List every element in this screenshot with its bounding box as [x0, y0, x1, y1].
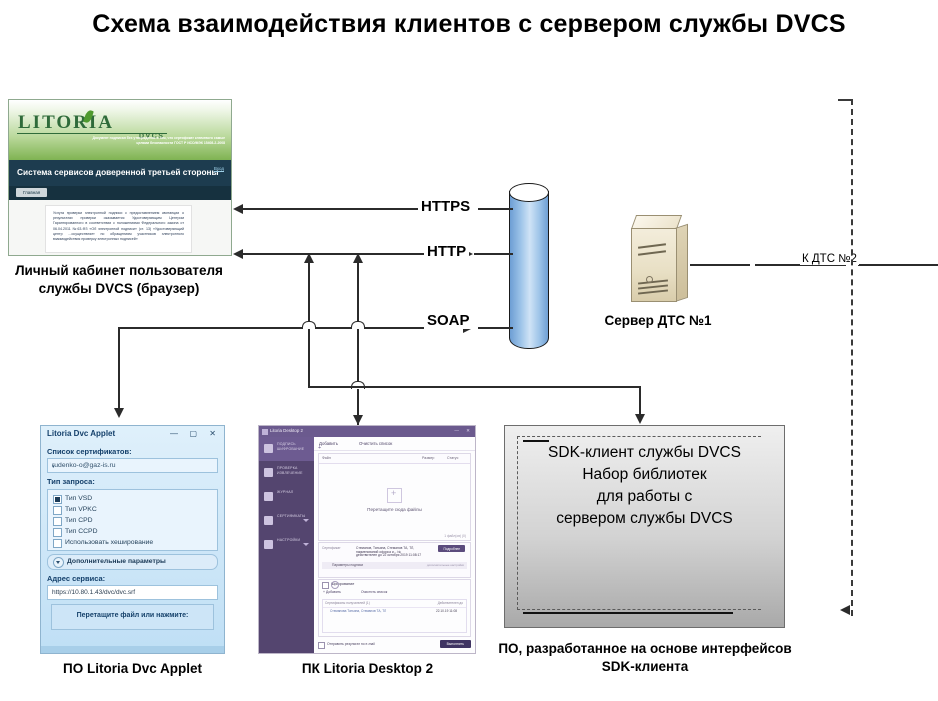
- encryption-clear-button[interactable]: Очистить список: [361, 590, 387, 594]
- clear-list-label: Очистить список: [359, 441, 392, 446]
- bus-to-sdk-arrow: [635, 414, 645, 424]
- applet-caption: ПО Litoria Dvc Applet: [20, 660, 245, 678]
- add-file-button[interactable]: + Добавить: [319, 441, 338, 446]
- option-hashing[interactable]: Использовать хеширование: [48, 537, 217, 548]
- recipient-column-right: Действителен до: [438, 601, 463, 605]
- signature-validity: действителен до 22 октября 2019 11:08:17: [356, 553, 437, 557]
- option-cpd-label: Тип CPD: [65, 517, 93, 524]
- checkbox-icon: [53, 495, 62, 504]
- more-params-label: Дополнительные параметры: [67, 558, 166, 565]
- request-type-label: Тип запроса:: [47, 477, 224, 486]
- soap-line: [118, 327, 467, 329]
- server-vent-1: [638, 243, 666, 248]
- cert-select[interactable]: rudenko-o@gaz-is.ru ▾: [47, 458, 218, 473]
- encryption-header[interactable]: Шифрование i: [319, 580, 470, 589]
- option-hashing-label: Использовать хеширование: [65, 539, 153, 546]
- encryption-panel: Шифрование i + Добавить Очистить список …: [318, 579, 471, 637]
- sdk-text: SDK-клиент службы DVCS Набор библиотек д…: [505, 442, 784, 530]
- service-address-input[interactable]: https://10.80.1.43/dvc/dvc.srf: [47, 585, 218, 600]
- page-title: Схема взаимодействия клиентов с сервером…: [0, 8, 938, 41]
- server-vent-4: [638, 284, 668, 289]
- gear-icon: [264, 540, 273, 549]
- clear-list-button[interactable]: Очистить список: [359, 441, 392, 446]
- signature-details-button[interactable]: Подробнее: [438, 545, 465, 552]
- file-dropzone[interactable]: Перетащите файл или нажмите:: [51, 604, 214, 630]
- checkbox-icon: [322, 582, 329, 589]
- signature-params-label: Параметры подписи: [332, 563, 363, 567]
- column-size: Размер: [422, 456, 434, 460]
- recipient-cert-list[interactable]: Сертификаты получателей (1) Действителен…: [322, 599, 467, 633]
- add-file-label: Добавить: [319, 441, 338, 446]
- info-card: Услуга проверки электронной подписи с пр…: [45, 205, 192, 253]
- server-label: Сервер ДТС №1: [578, 312, 738, 330]
- server-vent-3: [638, 279, 668, 284]
- cylinder-body: [509, 191, 549, 349]
- close-icon[interactable]: ✕: [209, 429, 216, 438]
- signature-validity-row: действителен до 22 октября 2019 11:08:17: [322, 555, 467, 561]
- https-label: HTTPS: [418, 198, 473, 215]
- bus-line: [308, 386, 640, 388]
- server-tower-icon: [625, 215, 687, 301]
- maximize-icon[interactable]: ▢: [189, 429, 197, 438]
- close-icon[interactable]: ✕: [466, 428, 470, 434]
- certificate-icon: [264, 516, 273, 525]
- sdk-line-1: SDK-клиент службы DVCS: [505, 442, 784, 464]
- pen-icon: [264, 444, 273, 453]
- email-checkbox[interactable]: [318, 642, 325, 649]
- bus-to-sdk-line: [639, 386, 641, 417]
- lock-icon: [264, 468, 273, 477]
- option-vpkc[interactable]: Тип VPKC: [48, 504, 217, 515]
- recipient-column-left: Сертификаты получателей (1): [325, 601, 370, 605]
- litoria-dvc-applet-window[interactable]: Litoria Dvc Applet — ▢ ✕ Список сертифик…: [40, 425, 225, 654]
- signature-params-row[interactable]: Параметры подписи дополнительные настрой…: [322, 562, 467, 569]
- soap-to-cylinder: [478, 327, 513, 329]
- recipient-valid-until: 22.10.19 11:08: [436, 609, 457, 613]
- option-vsd-label: Тип VSD: [65, 495, 92, 502]
- chevron-down-circle-icon: [53, 557, 64, 568]
- sidebar-item-journal-label: ЖУРНАЛ: [277, 490, 293, 495]
- litoria-logo-banner: LITORIA DVCS Документ подписан без утвер…: [9, 100, 231, 160]
- gost-note: Документ подписан без утверждения в том,…: [85, 136, 225, 145]
- encryption-clear-label: Очистить список: [361, 590, 387, 594]
- file-dropzone[interactable]: Перетащите сюда файлы: [319, 488, 470, 512]
- column-file: Файл: [322, 456, 331, 460]
- server-front-face: [631, 228, 677, 302]
- sdk-line-3: для работы с: [505, 486, 784, 508]
- column-status: Статус: [447, 456, 458, 460]
- line-hop-3: [351, 381, 365, 389]
- chevron-down-icon: [303, 543, 309, 546]
- checkbox-icon: [53, 528, 62, 537]
- sidebar-item-verify-extract-label: ПРОВЕРКА ИЗВЛЕЧЕНИЕ: [277, 466, 314, 476]
- cert-list-label: Список сертификатов:: [47, 447, 224, 456]
- run-button[interactable]: Выполнить: [440, 640, 471, 648]
- desktop-caption: ПК Litoria Desktop 2: [250, 660, 485, 678]
- boundary-top-tick: [838, 99, 851, 101]
- nav-tab-home[interactable]: Главная: [16, 188, 47, 197]
- chevron-down-icon: [303, 519, 309, 522]
- http-arrow-left: [233, 249, 243, 259]
- riser-arrow-2: [353, 253, 363, 263]
- minimize-icon[interactable]: —: [454, 428, 459, 433]
- more-params-toggle[interactable]: Дополнительные параметры: [47, 554, 218, 570]
- option-ccpd-label: Тип CCPD: [65, 528, 97, 535]
- applet-statusbar: [41, 646, 224, 653]
- encryption-add-button[interactable]: + Добавить: [323, 590, 341, 594]
- sdk-line-4: сервером службы DVCS: [505, 508, 784, 530]
- email-checkbox-label: Отправить результат по e-mail: [327, 642, 375, 646]
- plus-icon: +: [318, 445, 321, 451]
- server-power-led: [646, 276, 653, 283]
- site-header-title: Система сервисов доверенной третьей стор…: [17, 167, 219, 177]
- applet-drop-line: [118, 327, 120, 411]
- option-cpd[interactable]: Тип CPD: [48, 515, 217, 526]
- litoria-desktop-window[interactable]: Litoria Desktop 2 — ✕ ПОДПИСЬ ШИФРОВАНИЕ…: [258, 425, 476, 654]
- recipient-list-header: Сертификаты получателей (1) Действителен…: [323, 600, 466, 608]
- sidebar-item-sign-encrypt-label: ПОДПИСЬ ШИФРОВАНИЕ: [277, 442, 314, 452]
- riser-arrow-2-down: [353, 415, 363, 425]
- sidebar-item-verify-extract[interactable]: ПРОВЕРКА ИЗВЛЕЧЕНИЕ: [259, 461, 314, 485]
- file-grid-footer: 1 файл(ов) (0): [444, 534, 466, 538]
- add-file-icon: [387, 488, 402, 503]
- desktop-main-panel: + Добавить Очистить список Файл Размер С…: [314, 437, 475, 653]
- table-row[interactable]: Стеманова Татьяна, Стеманов ТА, ТЛ 22.10…: [323, 608, 466, 616]
- minimize-icon[interactable]: —: [170, 429, 178, 438]
- login-link[interactable]: Вход: [214, 166, 224, 171]
- chevron-down-icon: ▾: [52, 464, 213, 470]
- line-hop-1: [302, 321, 316, 329]
- site-content: Услуга проверки электронной подписи с пр…: [9, 200, 231, 255]
- help-icon[interactable]: i: [331, 581, 339, 589]
- option-vpkc-label: Тип VPKC: [65, 506, 97, 513]
- file-grid[interactable]: Файл Размер Статус Перетащите сюда файлы…: [318, 453, 471, 541]
- sidebar-item-certificates[interactable]: СЕРТИФИКАТЫ: [259, 509, 314, 533]
- riser-arrow-1: [304, 253, 314, 263]
- signature-params-note: дополнительные настройки: [427, 563, 464, 567]
- cylinder-top-ellipse: [509, 183, 549, 202]
- network-cylinder: [509, 183, 549, 355]
- server-to-boundary-line: [690, 264, 750, 266]
- file-dropzone-label: Перетащите сюда файлы: [319, 507, 470, 512]
- site-header-bar: Система сервисов доверенной третьей стор…: [9, 160, 231, 186]
- http-label: HTTP: [424, 243, 469, 260]
- sidebar-item-settings[interactable]: НАСТРОЙКИ: [259, 533, 314, 557]
- line-hop-2: [351, 321, 365, 329]
- sdk-client-box: SDK-клиент службы DVCS Набор библиотек д…: [504, 425, 785, 628]
- option-ccpd[interactable]: Тип CCPD: [48, 526, 217, 537]
- service-address-label: Адрес сервиса:: [47, 574, 224, 583]
- sdk-bottom-rule: [523, 612, 733, 614]
- file-grid-header: Файл Размер Статус: [319, 454, 470, 464]
- encryption-add-label: Добавить: [326, 590, 341, 594]
- desktop-title: Litoria Desktop 2: [270, 428, 303, 433]
- app-icon: [262, 429, 268, 435]
- applet-title: Litoria Dvc Applet: [47, 429, 115, 438]
- riser-line-2: [357, 262, 359, 434]
- recipient-name: Стеманова Татьяна, Стеманов ТА, ТЛ: [330, 609, 386, 613]
- encryption-toolbar: + Добавить Очистить список: [319, 589, 470, 597]
- checkbox-icon: [53, 539, 62, 548]
- sidebar-item-settings-label: НАСТРОЙКИ: [277, 538, 300, 543]
- signature-cert-key: Сертификат: [322, 546, 341, 550]
- sdk-caption: ПО, разработанное на основе интерфейсов …: [495, 640, 795, 676]
- signature-cert-row: Сертификат Стеманов, Татьяна, Стеманов Т…: [322, 545, 467, 553]
- service-address-value: https://10.80.1.43/dvc/dvc.srf: [52, 589, 135, 596]
- info-card-text: Услуга проверки электронной подписи с пр…: [53, 211, 184, 242]
- request-type-options: Тип VSD Тип VPKC Тип CPD Тип CCPD Исполь…: [47, 489, 218, 551]
- sidebar-item-journal[interactable]: ЖУРНАЛ: [259, 485, 314, 509]
- checkbox-icon: [53, 517, 62, 526]
- desktop-sidebar: ПОДПИСЬ ШИФРОВАНИЕ ПРОВЕРКА ИЗВЛЕЧЕНИЕ Ж…: [259, 437, 314, 653]
- applet-drop-arrow: [114, 408, 124, 418]
- http-to-cylinder: [474, 253, 513, 255]
- checkbox-icon: [53, 506, 62, 515]
- browser-screenshot[interactable]: LITORIA DVCS Документ подписан без утвер…: [8, 99, 232, 256]
- server-vent-5: [638, 289, 668, 294]
- soap-label: SOAP: [424, 312, 473, 329]
- journal-icon: [264, 492, 273, 501]
- logo-wordmark: LITORIA: [18, 112, 114, 134]
- browser-caption: Личный кабинет пользователя службы DVCS …: [0, 262, 238, 298]
- https-to-cylinder: [478, 208, 513, 210]
- desktop-titlebar: Litoria Desktop 2 — ✕: [259, 426, 475, 437]
- applet-titlebar: Litoria Dvc Applet — ▢ ✕: [41, 426, 224, 443]
- trust-boundary-dashed: [851, 99, 853, 616]
- desktop-bottom-bar: Отправить результат по e-mail Выполнить: [318, 639, 471, 651]
- option-vsd[interactable]: Тип VSD: [48, 493, 217, 504]
- server-vent-2: [638, 250, 666, 255]
- file-dropzone-label: Перетащите файл или нажмите:: [52, 612, 213, 619]
- sidebar-item-sign-encrypt[interactable]: ПОДПИСЬ ШИФРОВАНИЕ: [259, 437, 314, 461]
- desktop-toolbar: + Добавить Очистить список: [314, 437, 475, 451]
- signature-panel: Сертификат Стеманов, Татьяна, Стеманов Т…: [318, 542, 471, 578]
- sidebar-item-certificates-label: СЕРТИФИКАТЫ: [277, 514, 305, 519]
- site-nav-bar: Главная: [9, 186, 231, 200]
- boundary-bottom-arrow: [840, 605, 850, 615]
- https-arrow-left: [233, 204, 243, 214]
- sdk-line-2: Набор библиотек: [505, 464, 784, 486]
